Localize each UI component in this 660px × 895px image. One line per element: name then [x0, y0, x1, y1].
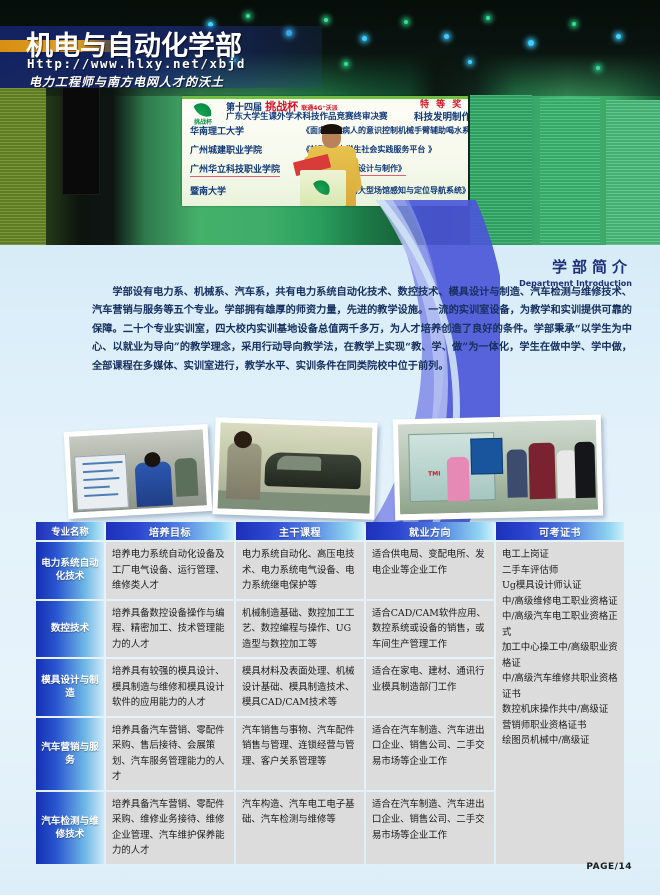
department-slogan: 电力工程师与南方电网人才的沃土	[29, 73, 224, 90]
col-header-career: 就业方向	[366, 522, 494, 540]
stage-light-dot	[444, 34, 449, 39]
technician-figure	[226, 443, 262, 500]
led-wall-right-1	[470, 95, 532, 245]
stage-light-dot	[468, 60, 472, 64]
slide-university-3: 广州华立科技职业学院	[190, 162, 280, 177]
cell-courses: 汽车销售与事物、汽车配件销售与管理、连锁经营与管理、客户关系管理等	[236, 718, 364, 790]
certificate-item: 中/高级维修电工职业资格证	[502, 594, 618, 610]
podium	[300, 170, 346, 206]
col-header-goal: 培养目标	[106, 522, 234, 540]
slide-title-line2: 广东大学生课外学术科技作品竞赛终审决赛	[226, 110, 388, 122]
stage-light-dot	[324, 18, 328, 22]
student-figure	[174, 458, 198, 497]
certificate-item: 营销师职业资格证书	[502, 718, 618, 734]
visitor-figure	[574, 442, 595, 498]
line-array-speaker	[62, 85, 100, 195]
cell-courses: 模具材料及表面处理、机械设计基础、模具制造技术、模具CAD/CAM技术等	[236, 659, 364, 716]
certificate-item: 中/高级汽车电工职业资格正式	[502, 609, 618, 640]
cell-career: 适合在汽车制造、汽车进出口企业、销售公司、二手交易市场等企业工作	[366, 792, 494, 864]
panel-line	[83, 469, 113, 473]
cell-career: 适合供电局、变配电所、发电企业等企业工作	[366, 542, 494, 599]
table-header-row: 专业名称 培养目标 主干课程 就业方向 可考证书	[36, 522, 624, 540]
led-wall-right-2	[540, 98, 600, 245]
student-figure	[135, 461, 173, 507]
header-stage-photo: 挑战杯 第十四届 挑战杯 联通4G⁺沃派 广东大学生课外学术科技作品竞赛终审决赛…	[0, 0, 660, 245]
certificate-item: 二手车评估师	[502, 563, 618, 579]
cell-certificates: 电工上岗证 二手车评估师 Ug模具设计师认证 中/高级维修电工职业资格证 中/高…	[496, 542, 624, 864]
cell-goal: 培养具备汽车营销、零配件采购、维修业务接待、维修企业管理、汽车维护保养能力的人才	[106, 792, 234, 864]
presentation-slide: 挑战杯 第十四届 挑战杯 联通4G⁺沃派 广东大学生课外学术科技作品竞赛终审决赛…	[182, 96, 468, 206]
panel-line	[84, 493, 118, 497]
section-title-cn: 学部简介	[519, 256, 632, 277]
slide-university-2: 广州城建职业学院	[190, 143, 262, 156]
slide-university-1: 华南理工大学	[190, 124, 244, 137]
stage-light-dot	[246, 14, 250, 18]
cell-major: 汽车营销与服务	[36, 718, 104, 790]
instructor-figure	[528, 443, 555, 500]
cell-career: 适合CAD/CAM软件应用、数控系统或设备的销售，或车间生产管理工作	[366, 601, 494, 658]
photo-cnc-lab: TMI	[393, 414, 603, 520]
cell-courses: 汽车构造、汽车电工电子基础、汽车检测与维修等	[236, 792, 364, 864]
control-panel	[74, 454, 129, 511]
cell-career: 适合在家电、建材、通讯行业模具制造部门工作	[366, 659, 494, 716]
visitor-figure	[507, 449, 528, 497]
certificate-item: 电工上岗证	[502, 547, 618, 563]
stage-light-dot	[486, 16, 490, 20]
photo-inner	[69, 429, 207, 512]
certificate-item: 加工中心操工中/高级职业资格证	[502, 640, 618, 671]
stage-light-dot	[528, 40, 534, 46]
panel-line	[84, 486, 110, 489]
col-header-certificates: 可考证书	[496, 522, 624, 540]
photo-auto-workshop	[212, 417, 377, 520]
machine-brand-mark: TMI	[428, 470, 440, 477]
slide-university-4: 暨南大学	[190, 184, 226, 197]
intro-paragraph: 学部设有电力系、机械系、汽车系，共有电力系统自动化技术、数控技术、模具设计与制造…	[92, 283, 632, 375]
cell-major: 模具设计与制造	[36, 659, 104, 716]
cell-major: 电力系统自动化技术	[36, 542, 104, 599]
page-number: PAGE/14	[586, 862, 632, 872]
car-window	[277, 455, 321, 471]
department-url[interactable]: Http://www.hlxy.net/xbjd	[27, 56, 246, 71]
panel-line	[82, 461, 122, 465]
led-wall-left	[0, 88, 46, 245]
certificate-item: 绘图员机械中/高级证	[502, 733, 618, 749]
leaf-shape-icon	[193, 98, 214, 120]
col-header-courses: 主干课程	[236, 522, 364, 540]
cell-goal: 培养具有较强的模具设计、模具制造与维修和模具设计软件的应用能力的人才	[106, 659, 234, 716]
stage-light-dot	[596, 66, 600, 70]
majors-table: 专业名称 培养目标 主干课程 就业方向 可考证书 电力系统自动化技术 培养电力系…	[34, 520, 626, 866]
photo-inner	[218, 422, 373, 513]
cell-career: 适合在汽车制造、汽车进出口企业、销售公司、二手交易市场等企业工作	[366, 718, 494, 790]
speaker-hair	[321, 124, 342, 134]
panel-line	[83, 477, 119, 481]
cell-courses: 电力系统自动化、高压电技术、电力系统电气设备、电力系统继电保护等	[236, 542, 364, 599]
slide-prize-category: 科技发明制作	[414, 109, 468, 123]
stage-light-dot	[572, 22, 576, 26]
cell-goal: 培养具备汽车营销、零配件采购、售后接待、会展策划、汽车服务管理能力的人才	[106, 718, 234, 790]
certificate-item: 数控机床操作共中/高级证	[502, 702, 618, 718]
certificate-item: Ug模具设计师认证	[502, 578, 618, 594]
cell-major: 数控技术	[36, 601, 104, 658]
stage-light-dot	[404, 20, 408, 24]
stage-light-dot	[362, 36, 367, 41]
podium-emblem-icon	[312, 174, 333, 197]
cnc-control-panel	[470, 438, 503, 475]
cell-major: 汽车检测与维修技术	[36, 792, 104, 864]
photo-electrical-lab	[64, 424, 213, 519]
cell-courses: 机械制造基础、数控加工工艺、数控编程与操作、UG造型与数控加工等	[236, 601, 364, 658]
photo-inner: TMI	[398, 420, 598, 515]
col-header-major: 专业名称	[36, 522, 104, 540]
stage-light-dot	[344, 62, 348, 66]
cell-goal: 培养电力系统自动化设备及工厂电气设备、运行管理、维修类人才	[106, 542, 234, 599]
brochure-page: 挑战杯 第十四届 挑战杯 联通4G⁺沃派 广东大学生课外学术科技作品竞赛终审决赛…	[0, 0, 660, 895]
stage-light-dot	[616, 34, 621, 39]
certificate-item: 中/高级汽车维修共职业资格证书	[502, 671, 618, 702]
led-wall-right-3	[606, 100, 660, 245]
table-row: 电力系统自动化技术 培养电力系统自动化设备及工厂电气设备、运行管理、维修类人才 …	[36, 542, 624, 599]
cell-goal: 培养具备数控设备操作与编程、精密加工、技术管理能力的人才	[106, 601, 234, 658]
student-figure	[447, 457, 470, 502]
